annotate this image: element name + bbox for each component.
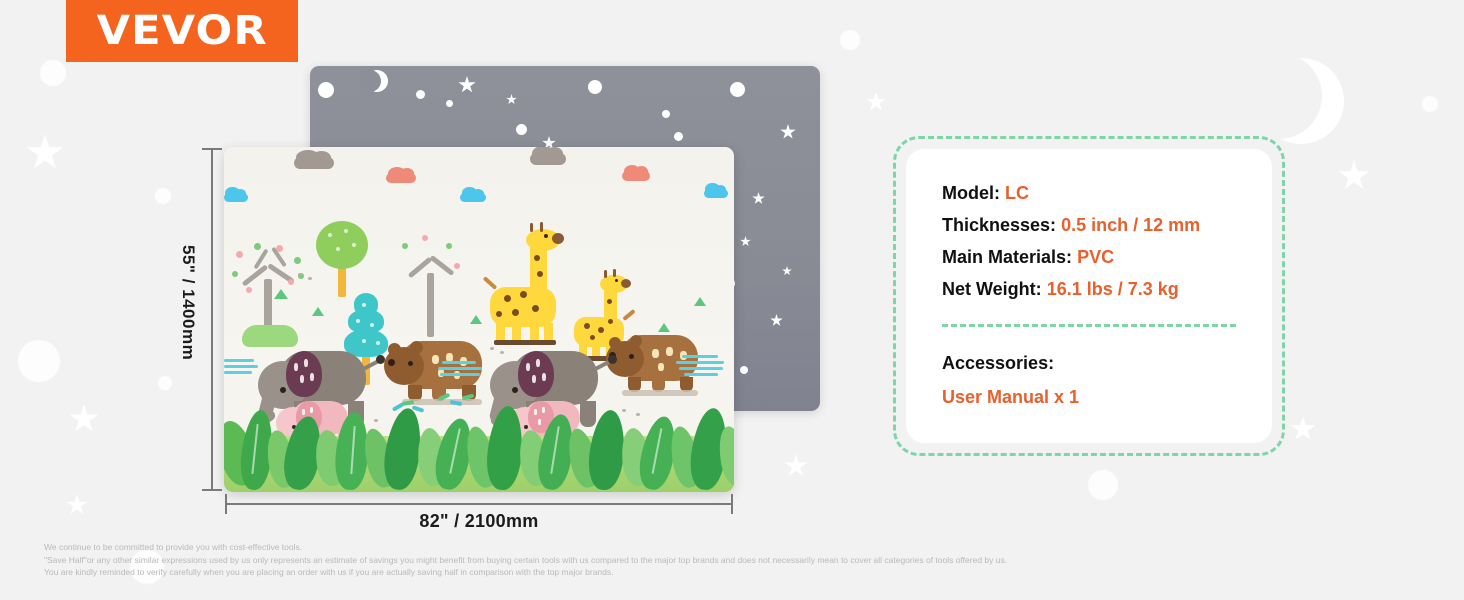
mat-dot xyxy=(516,124,527,135)
accessories-title: Accessories: xyxy=(942,353,1236,374)
width-dimension-line xyxy=(225,503,733,505)
bokeh-circle xyxy=(40,60,66,86)
footer-disclaimer: We continue to be committed to provide y… xyxy=(44,541,1164,579)
star-decor-icon xyxy=(26,134,64,172)
spec-row-model: Model: LC xyxy=(942,183,1236,204)
spec-value-net-weight: 16.1 lbs / 7.3 kg xyxy=(1047,279,1179,299)
spec-row-thicknesses: Thicknesses: 0.5 inch / 12 mm xyxy=(942,215,1236,236)
moon-decor-icon xyxy=(1258,58,1344,144)
cloud-cyan xyxy=(224,193,248,202)
green-tree xyxy=(316,221,368,297)
spec-value-thicknesses: 0.5 inch / 12 mm xyxy=(1061,215,1200,235)
mat-star-icon xyxy=(782,266,792,276)
mat-dot xyxy=(588,80,602,94)
cloud-gray xyxy=(294,157,334,169)
cloud-salmon xyxy=(622,171,650,181)
mat-dot xyxy=(416,90,425,99)
pebble xyxy=(298,273,302,276)
giraffe-large xyxy=(482,229,574,345)
sprout xyxy=(470,315,482,324)
spec-label-thicknesses: Thicknesses: xyxy=(942,215,1056,235)
star-decor-icon xyxy=(69,404,99,434)
spec-row-materials: Main Materials: PVC xyxy=(942,247,1236,268)
mat-star-icon xyxy=(770,314,783,327)
cloud-cyan xyxy=(460,193,486,202)
star-decor-icon xyxy=(784,454,808,478)
spec-label-materials: Main Materials: xyxy=(942,247,1072,267)
spec-label-net-weight: Net Weight: xyxy=(942,279,1042,299)
width-dimension-label: 82" / 2100mm xyxy=(225,511,733,532)
mat-star-icon xyxy=(458,76,476,94)
spec-row-net-weight: Net Weight: 16.1 lbs / 7.3 kg xyxy=(942,279,1236,300)
mat-star-icon xyxy=(780,124,796,140)
vevor-logo-text: VEVOR xyxy=(96,8,267,54)
infographic-canvas: VEVOR xyxy=(0,0,1464,600)
pebble xyxy=(500,351,504,354)
spec-value-model: LC xyxy=(1005,183,1029,203)
bare-tree xyxy=(400,233,462,337)
footer-line-1: We continue to be committed to provide y… xyxy=(44,541,1164,554)
cloud-gray xyxy=(530,153,566,165)
play-mat-front-animals xyxy=(224,147,734,492)
bokeh-circle xyxy=(1422,96,1438,112)
pebble xyxy=(308,277,312,280)
stripe-bush xyxy=(224,359,258,381)
spec-card: Model: LC Thicknesses: 0.5 inch / 12 mm … xyxy=(893,136,1285,456)
mat-star-icon xyxy=(740,236,751,247)
spec-value-materials: PVC xyxy=(1077,247,1114,267)
mat-star-icon xyxy=(752,192,765,205)
spec-card-inner: Model: LC Thicknesses: 0.5 inch / 12 mm … xyxy=(906,149,1272,443)
height-dimension-label: 55" / 1400mm xyxy=(178,245,198,360)
mat-dot xyxy=(730,82,745,97)
star-decor-icon xyxy=(66,494,88,516)
star-decor-icon xyxy=(866,92,886,112)
bokeh-circle xyxy=(18,340,60,382)
spec-divider xyxy=(942,324,1236,327)
bokeh-circle xyxy=(155,188,171,204)
footer-line-2: "Save Half"or any other similar expressi… xyxy=(44,554,1164,567)
mat-star-icon xyxy=(506,94,517,105)
bokeh-circle xyxy=(840,30,860,50)
bokeh-circle xyxy=(1088,470,1118,500)
mat-dot xyxy=(662,110,670,118)
mat-dot xyxy=(318,82,334,98)
mat-dot xyxy=(674,132,683,141)
cloud-cyan xyxy=(704,189,728,198)
leaf-border xyxy=(224,382,734,492)
sprout xyxy=(694,297,706,306)
accessories-value: User Manual x 1 xyxy=(942,387,1236,408)
star-decor-icon xyxy=(1338,160,1370,192)
spec-label-model: Model: xyxy=(942,183,1000,203)
mat-dot xyxy=(740,366,748,374)
star-decor-icon xyxy=(1290,416,1316,442)
pebble xyxy=(490,347,494,350)
stripe-bush xyxy=(676,355,726,381)
footer-line-3: You are kindly reminded to verify carefu… xyxy=(44,566,1164,579)
height-dimension-line xyxy=(211,148,213,491)
mat-moon-icon xyxy=(366,70,388,92)
cloud-salmon xyxy=(386,173,416,183)
bokeh-circle xyxy=(158,376,172,390)
vevor-logo: VEVOR xyxy=(66,0,298,62)
mat-dot xyxy=(446,100,453,107)
sprout xyxy=(312,307,324,316)
